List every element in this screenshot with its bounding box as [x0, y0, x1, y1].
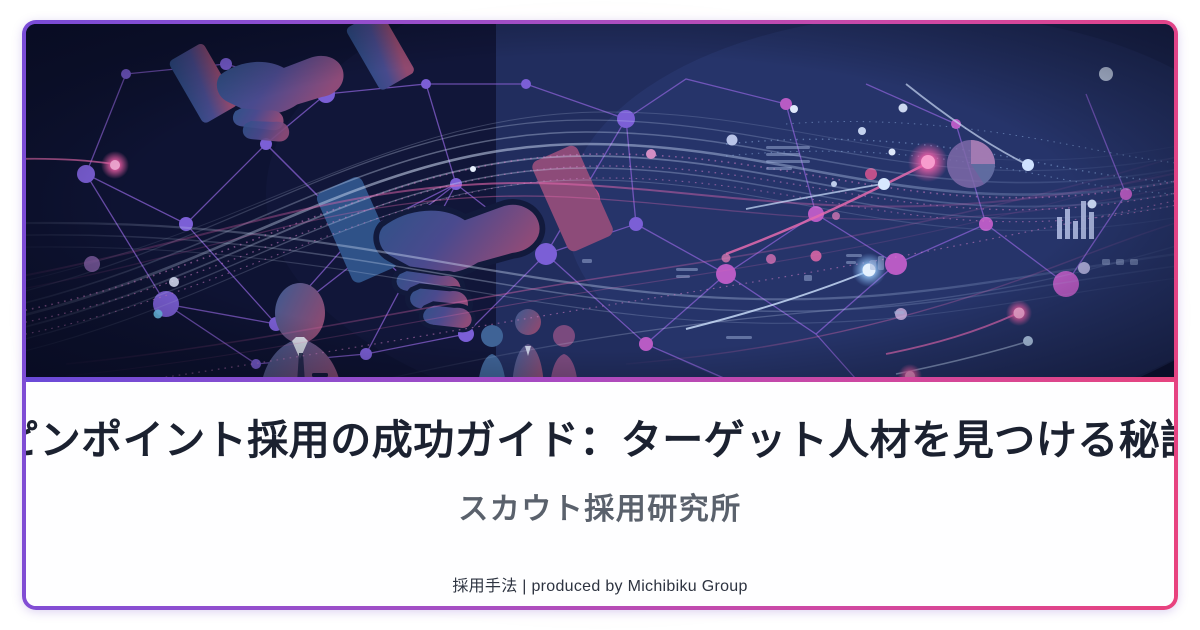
card-inner: ピンポイント採用の成功ガイド：ターゲット人材を見つける秘訣 スカウト採用研究所 … — [26, 24, 1174, 606]
page-subtitle: スカウト採用研究所 — [458, 484, 742, 528]
gradient-border-card: ピンポイント採用の成功ガイド：ターゲット人材を見つける秘訣 スカウト採用研究所 … — [22, 20, 1178, 610]
ogp-card-stage: ピンポイント採用の成功ガイド：ターゲット人材を見つける秘訣 スカウト採用研究所 … — [0, 0, 1200, 630]
text-panel: ピンポイント採用の成功ガイド：ターゲット人材を見つける秘訣 スカウト採用研究所 … — [26, 382, 1174, 606]
hero-artwork-svg — [26, 24, 1174, 382]
page-title: ピンポイント採用の成功ガイド：ターゲット人材を見つける秘訣 — [26, 416, 1174, 464]
hero-illustration — [26, 24, 1174, 382]
hero-bottom-divider — [26, 377, 1174, 382]
page-footer-credit: 採用手法 | produced by Michibiku Group — [452, 572, 747, 596]
